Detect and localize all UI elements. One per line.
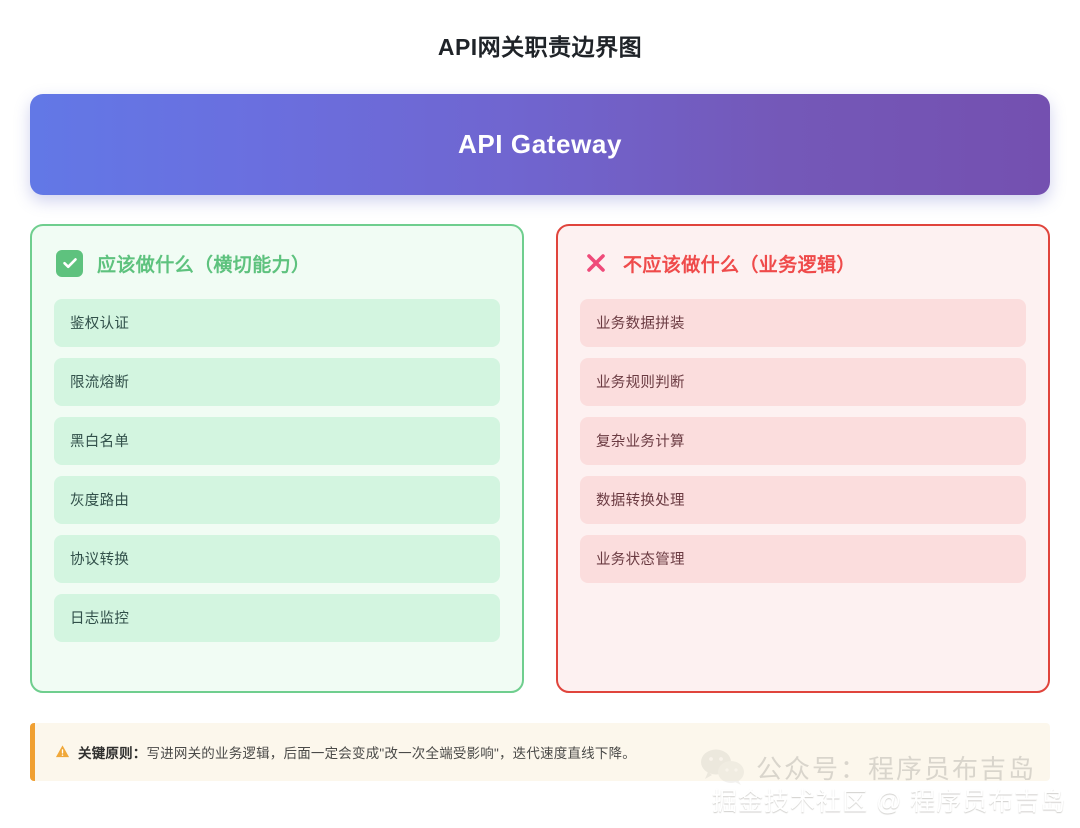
list-item[interactable]: 协议转换 [54,535,500,583]
list-item[interactable]: 业务状态管理 [580,535,1026,583]
list-item[interactable]: 黑白名单 [54,417,500,465]
list-item[interactable]: 数据转换处理 [580,476,1026,524]
list-item[interactable]: 业务数据拼装 [580,299,1026,347]
list-item[interactable]: 业务规则判断 [580,358,1026,406]
should-not-do-list: 业务数据拼装 业务规则判断 复杂业务计算 数据转换处理 业务状态管理 [580,299,1026,583]
panel-should-do: 应该做什么（横切能力） 鉴权认证 限流熔断 黑白名单 灰度路由 协议转换 日志监… [30,224,524,693]
key-principle-text: 关键原则：写进网关的业务逻辑，后面一定会变成"改一次全端受影响"，迭代速度直线下… [78,742,636,762]
diagram-page: API网关职责边界图 API Gateway 应该做什么（横切能力） 鉴权认证 … [0,0,1080,828]
page-title: API网关职责边界图 [30,0,1050,62]
cross-mark-icon [582,250,609,277]
warning-triangle-icon [55,744,70,759]
list-item[interactable]: 日志监控 [54,594,500,642]
api-gateway-banner: API Gateway [30,94,1050,195]
watermark-foreground: 掘金技术社区 @ 程序员布吉岛 [712,782,1066,818]
key-principle-label: 关键原则： [78,746,147,761]
api-gateway-label: API Gateway [458,129,622,160]
key-principle-body: 写进网关的业务逻辑，后面一定会变成"改一次全端受影响"，迭代速度直线下降。 [147,746,636,761]
should-do-list: 鉴权认证 限流熔断 黑白名单 灰度路由 协议转换 日志监控 [54,299,500,642]
key-principle-note: 关键原则：写进网关的业务逻辑，后面一定会变成"改一次全端受影响"，迭代速度直线下… [30,723,1050,781]
panel-should-not-do-title: 不应该做什么（业务逻辑） [623,250,856,277]
list-item[interactable]: 灰度路由 [54,476,500,524]
panel-should-not-do-header: 不应该做什么（业务逻辑） [580,250,1026,277]
list-item[interactable]: 复杂业务计算 [580,417,1026,465]
list-item[interactable]: 限流熔断 [54,358,500,406]
panel-should-do-title: 应该做什么（横切能力） [97,250,310,277]
check-square-icon [56,250,83,277]
panel-should-do-header: 应该做什么（横切能力） [54,250,500,277]
panels-row: 应该做什么（横切能力） 鉴权认证 限流熔断 黑白名单 灰度路由 协议转换 日志监… [30,224,1050,693]
panel-should-not-do: 不应该做什么（业务逻辑） 业务数据拼装 业务规则判断 复杂业务计算 数据转换处理… [556,224,1050,693]
list-item[interactable]: 鉴权认证 [54,299,500,347]
